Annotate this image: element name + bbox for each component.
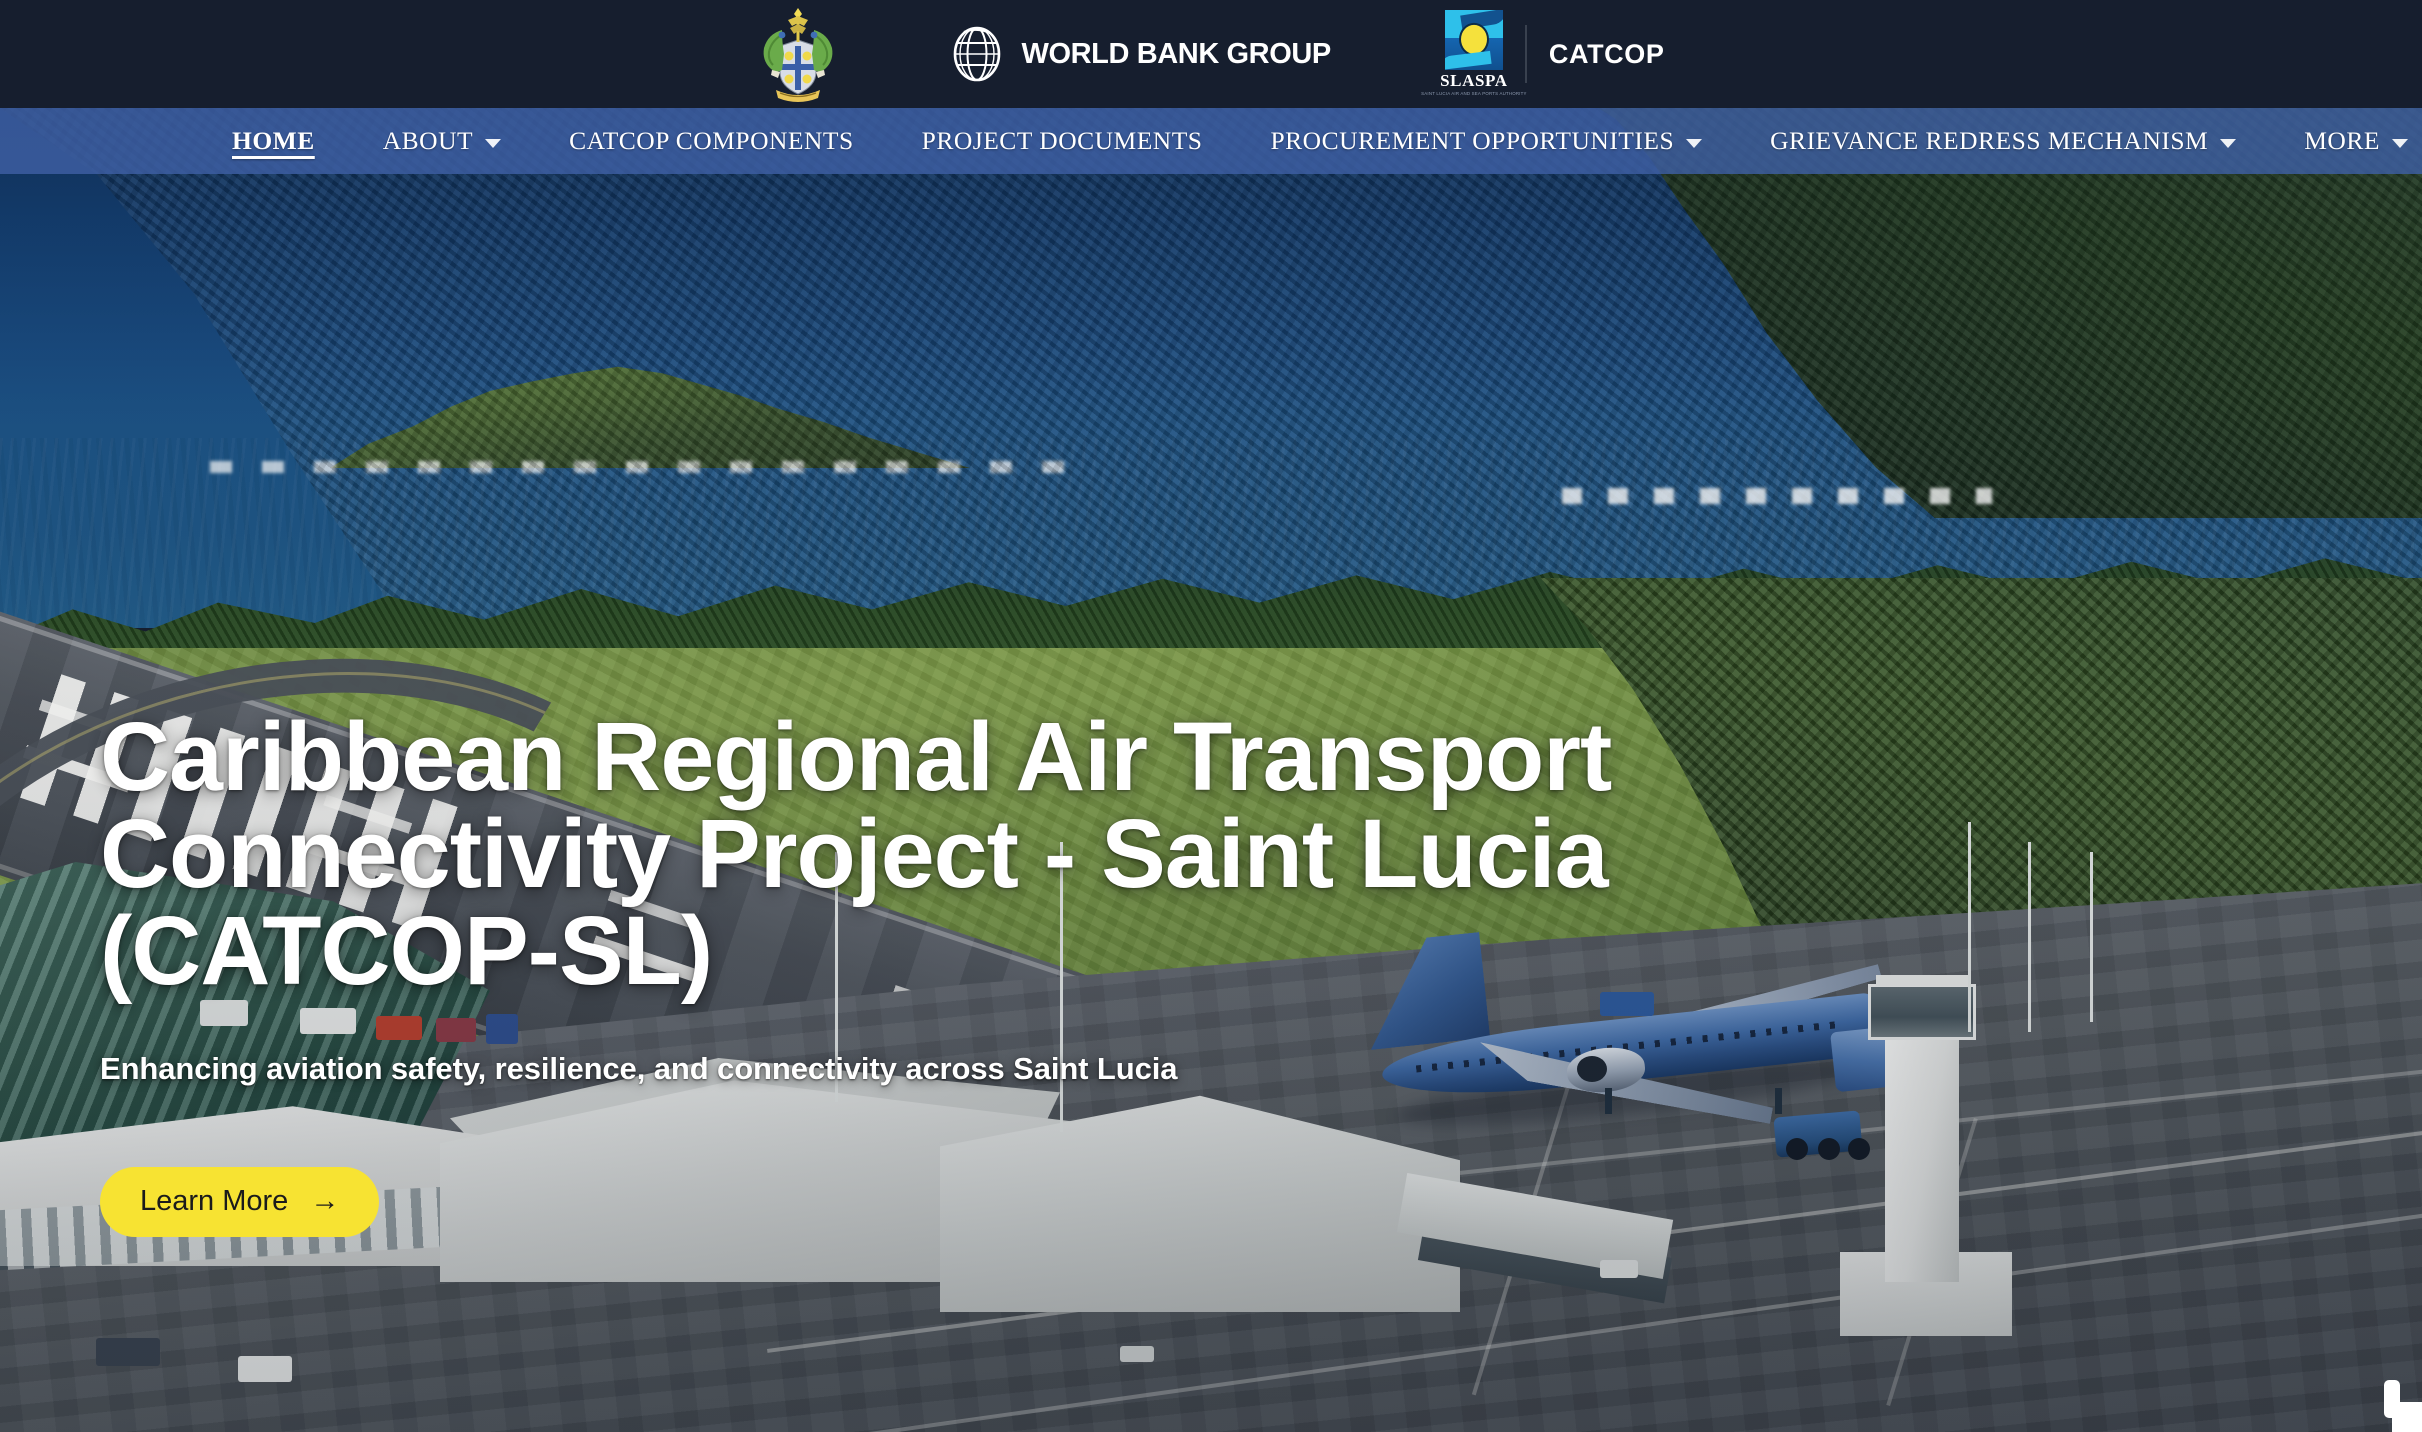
chevron-down-icon (485, 139, 501, 148)
nav-item-about-label: ABOUT (383, 126, 473, 156)
chevron-down-icon (2392, 139, 2408, 148)
chevron-down-icon (2220, 139, 2236, 148)
floating-corner-widget[interactable] (2370, 1380, 2422, 1432)
top-logo-bar: WORLD BANK GROUP SLASPA SAINT LUCIA AIR … (0, 0, 2422, 108)
world-bank-group-label: WORLD BANK GROUP (1022, 38, 1331, 71)
nav-item-about[interactable]: ABOUT (383, 126, 501, 156)
slaspa-wordmark: SLASPA (1440, 72, 1508, 89)
nav-item-home-label: HOME (232, 126, 315, 156)
catcop-label: CATCOP (1549, 39, 1665, 70)
nav-item-home[interactable]: HOME (232, 126, 315, 156)
slaspa-catcop-logo: SLASPA SAINT LUCIA AIR AND SEA PORTS AUT… (1443, 10, 1665, 98)
nav-item-procurement-opportunities-label: PROCUREMENT OPPORTUNITIES (1270, 126, 1674, 156)
logo-group: WORLD BANK GROUP SLASPA SAINT LUCIA AIR … (758, 6, 1665, 102)
nav-item-list: HOME ABOUT CATCOP COMPONENTS PROJECT DOC… (0, 126, 2422, 156)
hero-section: HOME ABOUT CATCOP COMPONENTS PROJECT DOC… (0, 108, 2422, 1432)
hero-content: Caribbean Regional Air Transport Connect… (100, 708, 1800, 1237)
slaspa-logo: SLASPA SAINT LUCIA AIR AND SEA PORTS AUT… (1443, 10, 1505, 98)
world-bank-group-logo: WORLD BANK GROUP (950, 25, 1331, 83)
nav-item-catcop-components[interactable]: CATCOP COMPONENTS (569, 126, 854, 156)
nav-item-catcop-components-label: CATCOP COMPONENTS (569, 126, 854, 156)
nav-item-more-label: MORE (2304, 126, 2380, 156)
nav-item-procurement-opportunities[interactable]: PROCUREMENT OPPORTUNITIES (1270, 126, 1702, 156)
saint-lucia-coat-of-arms-icon (758, 6, 838, 102)
hero-subtitle: Enhancing aviation safety, resilience, a… (100, 1051, 1800, 1087)
main-navigation: HOME ABOUT CATCOP COMPONENTS PROJECT DOC… (0, 108, 2422, 174)
nav-item-project-documents[interactable]: PROJECT DOCUMENTS (922, 126, 1203, 156)
arrow-right-icon: → (310, 1187, 339, 1216)
nav-item-grievance-redress-mechanism-label: GRIEVANCE REDRESS MECHANISM (1770, 126, 2208, 156)
chevron-down-icon (1686, 139, 1702, 148)
world-bank-globe-icon (950, 25, 1004, 83)
slaspa-subtitle: SAINT LUCIA AIR AND SEA PORTS AUTHORITY (1421, 91, 1526, 96)
hero-title: Caribbean Regional Air Transport Connect… (100, 708, 1740, 999)
learn-more-label: Learn More (140, 1187, 288, 1216)
nav-item-more[interactable]: MORE (2304, 126, 2408, 156)
nav-item-project-documents-label: PROJECT DOCUMENTS (922, 126, 1203, 156)
corner-widget-handle (2384, 1380, 2400, 1418)
nav-item-grievance-redress-mechanism[interactable]: GRIEVANCE REDRESS MECHANISM (1770, 126, 2236, 156)
slaspa-emblem-icon (1445, 10, 1503, 70)
logo-divider (1525, 25, 1527, 83)
learn-more-button[interactable]: Learn More → (100, 1167, 379, 1237)
slaspa-swoosh-bottom (1445, 51, 1492, 70)
page-root: WORLD BANK GROUP SLASPA SAINT LUCIA AIR … (0, 0, 2422, 1432)
